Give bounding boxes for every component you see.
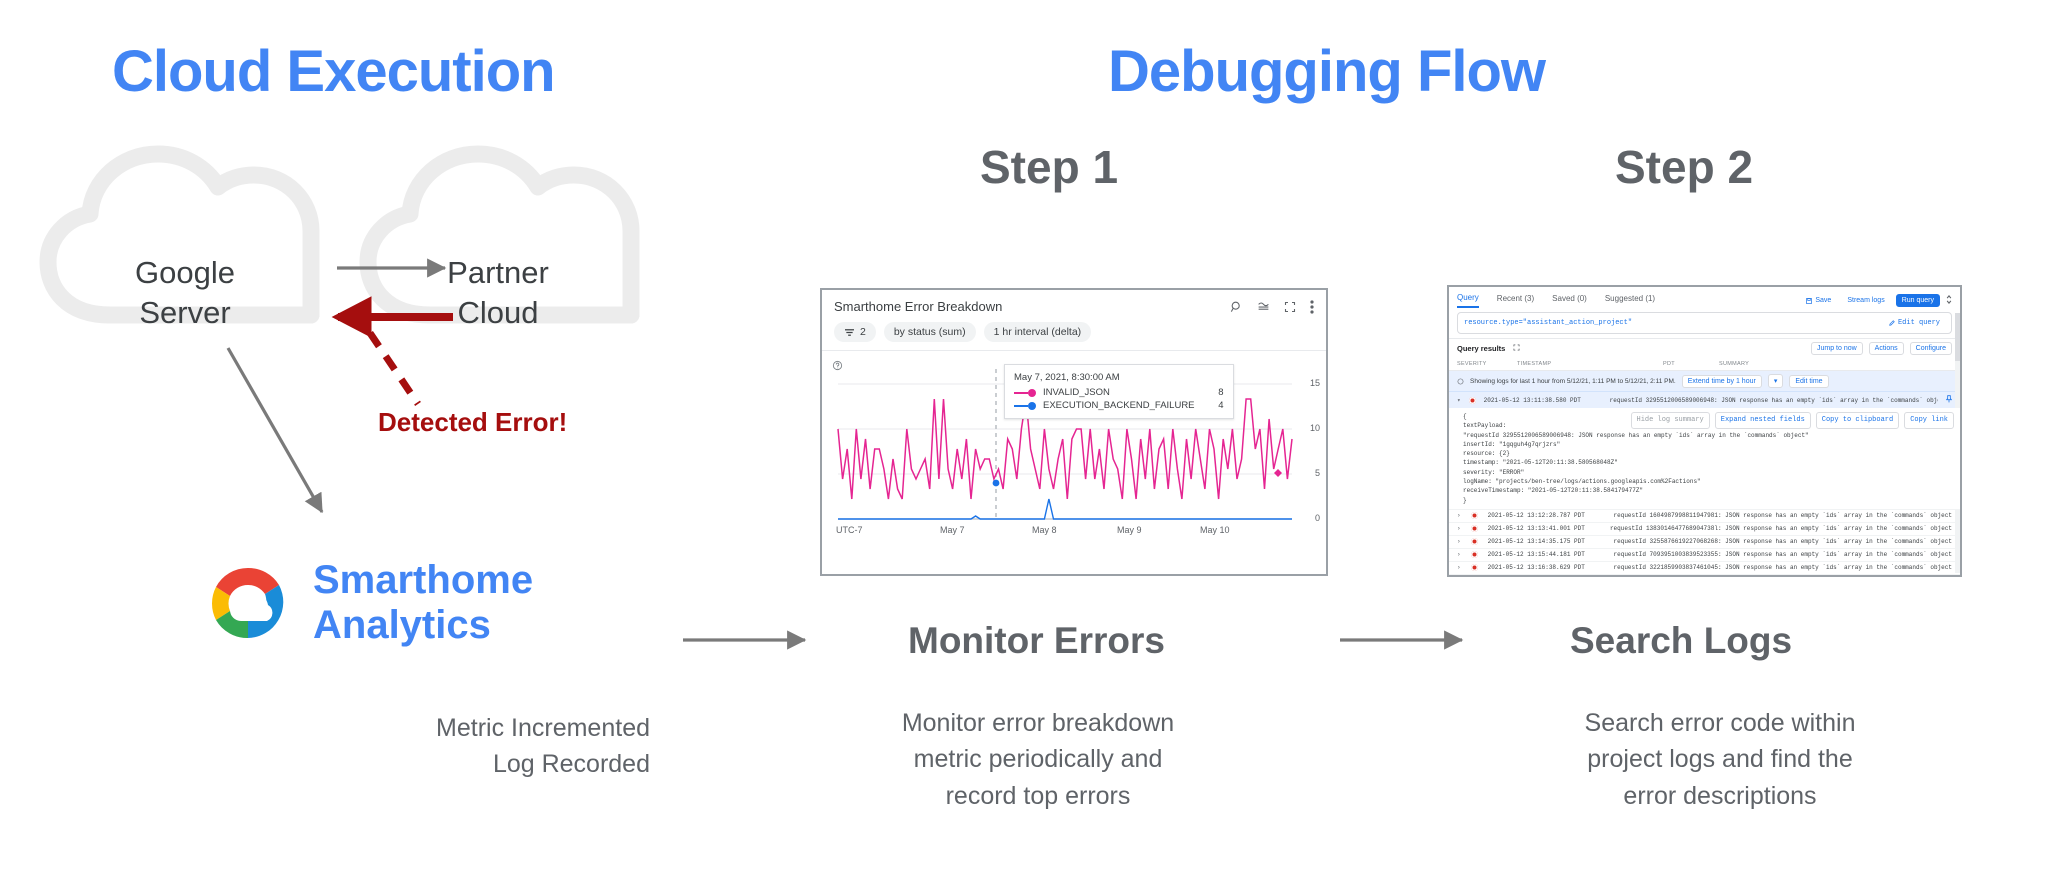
json-line: } <box>1463 496 1952 505</box>
google-server-label: Google Server <box>85 253 285 332</box>
json-line[interactable]: resource: {2} <box>1463 449 1952 458</box>
row-summary: requestId 1604987998811947981: JSON resp… <box>1614 512 1952 519</box>
row-summary: requestId 3221859903837461045: JSON resp… <box>1614 564 1952 571</box>
chart-highlight-point-blue <box>993 480 1000 487</box>
column-header-timestamp: TIMESTAMP <box>1517 361 1637 367</box>
json-line: severity: "ERROR" <box>1463 468 1952 477</box>
severity-error-icon <box>1471 551 1478 558</box>
json-line: receiveTimestamp: "2021-05-12T20:11:38.5… <box>1463 486 1952 495</box>
tab-recent[interactable]: Recent (3) <box>1497 294 1534 307</box>
column-header-severity: SEVERITY <box>1457 361 1491 367</box>
logs-column-headers: SEVERITY TIMESTAMP PDT SUMMARY <box>1449 358 1960 371</box>
column-header-timezone[interactable]: PDT <box>1663 361 1693 367</box>
chart-xtick-may-8: May 8 <box>1032 525 1057 535</box>
selected-row-timestamp: 2021-05-12 13:11:38.580 PDT <box>1484 397 1602 404</box>
tab-query[interactable]: Query <box>1457 293 1479 308</box>
logs-result-rows: ›2021-05-12 13:12:28.787 PDTrequestId 16… <box>1449 509 1960 577</box>
caption-metric-log: Metric Incremented Log Recorded <box>210 710 650 783</box>
save-icon <box>1806 298 1812 304</box>
results-actions: Jump to now Actions Configure <box>1811 342 1952 355</box>
chart-highlight-point-pink <box>1274 469 1282 477</box>
step-1-title: Step 1 <box>980 140 1118 194</box>
arrow-google-to-analytics <box>228 348 322 512</box>
chart-header-icons <box>1230 300 1314 314</box>
chart-xtick-may-10: May 10 <box>1200 525 1230 535</box>
table-row[interactable]: ›2021-05-12 13:16:38.629 PDTrequestId 32… <box>1449 561 1960 574</box>
chart-xtick-may-9: May 9 <box>1117 525 1142 535</box>
dashed-error-line <box>370 333 418 404</box>
actions-dropdown[interactable]: Actions <box>1869 342 1904 355</box>
run-query-button[interactable]: Run query <box>1896 294 1940 307</box>
tooltip-series-value: 4 <box>1202 400 1224 411</box>
severity-error-icon <box>1469 397 1476 404</box>
chart-series-execution-backend-failure <box>838 499 1292 519</box>
expand-collapse-icon[interactable] <box>1946 294 1952 307</box>
severity-error-icon <box>1471 525 1478 532</box>
caption-search-logs: Search error code within project logs an… <box>1520 705 1920 814</box>
stream-logs-button[interactable]: Stream logs <box>1842 295 1889 306</box>
edit-time-button[interactable]: Edit time <box>1789 375 1828 388</box>
logs-toolbar: Save Stream logs Run query <box>1801 294 1952 307</box>
info-circle-icon <box>1457 378 1464 385</box>
chevron-right-icon[interactable]: › <box>1457 512 1461 519</box>
chart-chip-row: 2 by status (sum) 1 hr interval (delta) <box>822 316 1326 350</box>
tooltip-row-invalid-json: INVALID_JSON 8 <box>1014 387 1224 398</box>
chevron-right-icon[interactable]: › <box>1457 525 1461 532</box>
logs-explorer-card[interactable]: Query Recent (3) Saved (0) Suggested (1)… <box>1447 285 1962 577</box>
brand-name-label: Smarthome Analytics <box>313 558 533 648</box>
tooltip-timestamp: May 7, 2021, 8:30:00 AM <box>1014 372 1224 383</box>
edit-query-button[interactable]: Edit query <box>1884 317 1945 329</box>
fullscreen-icon[interactable] <box>1513 344 1520 353</box>
severity-error-icon <box>1471 512 1478 519</box>
flow-heading-monitor-errors: Monitor Errors <box>908 620 1165 662</box>
chart-xtick-may-7: May 7 <box>940 525 965 535</box>
pin-icon[interactable] <box>1946 395 1952 405</box>
caption-monitor-errors: Monitor error breakdown metric periodica… <box>838 705 1238 814</box>
interval-chip-label: 1 hr interval (delta) <box>994 326 1082 338</box>
configure-dropdown[interactable]: Configure <box>1910 342 1952 355</box>
table-row[interactable]: ›2021-05-12 13:15:44.181 PDTrequestId 70… <box>1449 548 1960 561</box>
severity-error-icon <box>1471 538 1478 545</box>
extend-time-button[interactable]: Extend time by 1 hour <box>1682 375 1762 388</box>
table-row[interactable]: ›2021-05-12 13:12:28.787 PDTrequestId 16… <box>1449 509 1960 522</box>
save-button-label: Save <box>1815 297 1831 304</box>
step-2-title: Step 2 <box>1615 140 1753 194</box>
time-range-banner: Showing logs for last 1 hour from 5/12/2… <box>1449 371 1960 391</box>
tab-saved[interactable]: Saved (0) <box>1552 294 1587 307</box>
hide-log-summary-button[interactable]: Hide log summary <box>1631 412 1710 429</box>
table-row[interactable]: ›2021-05-12 13:14:35.175 PDTrequestId 32… <box>1449 535 1960 548</box>
tooltip-series-name: EXECUTION_BACKEND_FAILURE <box>1043 400 1195 411</box>
edit-query-label: Edit query <box>1898 319 1940 327</box>
group-by-chip[interactable]: by status (sum) <box>884 322 976 342</box>
smarthome-analytics-brand: Smarthome Analytics <box>205 558 533 648</box>
chart-timezone-label: UTC-7 <box>836 525 863 535</box>
chart-ytick-0: 0 <box>1315 513 1320 523</box>
extend-time-dropdown[interactable]: ▾ <box>1768 374 1784 388</box>
time-range-text: Showing logs for last 1 hour from 5/12/2… <box>1470 378 1676 385</box>
severity-error-icon <box>1471 564 1478 571</box>
chart-tooltip: May 7, 2021, 8:30:00 AM INVALID_JSON 8 E… <box>1004 364 1234 419</box>
row-timestamp: 2021-05-12 13:16:38.629 PDT <box>1488 564 1604 571</box>
table-row[interactable]: ›2021-05-12 13:13:41.001 PDTrequestId 13… <box>1449 522 1960 535</box>
tooltip-series-value: 8 <box>1202 387 1224 398</box>
row-timestamp: 2021-05-12 13:12:28.787 PDT <box>1488 512 1604 519</box>
log-entry-json: Hide log summary Expand nested fields Co… <box>1449 408 1960 509</box>
row-timestamp: 2021-05-12 13:13:41.001 PDT <box>1488 525 1600 532</box>
row-timestamp: 2021-05-12 13:14:35.175 PDT <box>1488 538 1604 545</box>
selected-log-row[interactable]: ▾ 2021-05-12 13:11:38.580 PDT requestId … <box>1449 391 1960 408</box>
copy-to-clipboard-button[interactable]: Copy to clipboard <box>1816 412 1899 429</box>
tab-suggested[interactable]: Suggested (1) <box>1605 294 1655 307</box>
pencil-icon <box>1889 320 1895 326</box>
json-action-buttons: Hide log summary Expand nested fields Co… <box>1631 412 1954 429</box>
page-title-cloud-execution: Cloud Execution <box>112 38 555 105</box>
query-text: resource.type="assistant_action_project" <box>1464 319 1632 327</box>
selected-row-summary: requestId 3295512006589006948: JSON resp… <box>1610 397 1938 404</box>
query-results-title: Query results <box>1457 344 1505 353</box>
query-results-bar: Query results Jump to now Actions Config… <box>1449 338 1960 358</box>
column-header-summary: SUMMARY <box>1719 361 1749 367</box>
json-line: insertId: "1gqguh4g7qrjzrs" <box>1463 440 1952 449</box>
flow-heading-search-logs: Search Logs <box>1570 620 1792 662</box>
chart-ytick-10: 10 <box>1310 423 1320 433</box>
query-input[interactable]: resource.type="assistant_action_project"… <box>1457 312 1952 334</box>
json-line: logName: "projects/ben-tree/logs/actions… <box>1463 477 1952 486</box>
zoom-search-icon[interactable] <box>1230 300 1243 313</box>
table-row[interactable]: ›2021-05-12 13:48:40.484 PDTrequestId 47… <box>1449 574 1960 577</box>
chevron-right-icon[interactable]: › <box>1457 538 1461 545</box>
logs-tab-bar: Query Recent (3) Saved (0) Suggested (1)… <box>1449 287 1960 308</box>
legend-swatch-execution-backend-failure <box>1014 402 1036 410</box>
chart-card-header: Smarthome Error Breakdown <box>822 290 1326 316</box>
detected-error-label: Detected Error! <box>378 407 567 438</box>
tooltip-row-execution-backend-failure: EXECUTION_BACKEND_FAILURE 4 <box>1014 400 1224 411</box>
google-cloud-logo-icon <box>205 564 291 642</box>
save-button[interactable]: Save <box>1801 295 1836 306</box>
filter-chip-label: 2 <box>860 326 866 338</box>
interval-chip[interactable]: 1 hr interval (delta) <box>984 322 1092 342</box>
row-timestamp: 2021-05-12 13:15:44.181 PDT <box>1488 551 1604 558</box>
fullscreen-icon[interactable] <box>1284 301 1296 313</box>
chevron-right-icon[interactable]: › <box>1457 564 1461 571</box>
jump-to-now-button[interactable]: Jump to now <box>1811 342 1863 355</box>
legend-swatch-invalid-json <box>1014 389 1036 397</box>
tooltip-series-name: INVALID_JSON <box>1043 387 1195 398</box>
chevron-right-icon[interactable]: › <box>1457 551 1461 558</box>
chart-ytick-15: 15 <box>1310 378 1320 388</box>
row-summary: requestId 1383014647768904738l: JSON res… <box>1610 525 1952 532</box>
page-title-debugging-flow: Debugging Flow <box>1108 38 1545 105</box>
more-vert-icon[interactable] <box>1310 300 1314 314</box>
chart-type-icon[interactable] <box>1257 300 1270 313</box>
copy-link-button[interactable]: Copy link <box>1904 412 1954 429</box>
chart-ytick-5: 5 <box>1315 468 1320 478</box>
partner-cloud-label: Partner Cloud <box>398 253 598 332</box>
row-summary: requestId 7093951003839523355: JSON resp… <box>1614 551 1952 558</box>
json-line: "requestId 3295512006589006948: JSON res… <box>1463 431 1952 440</box>
group-by-chip-label: by status (sum) <box>894 326 966 338</box>
chevron-down-icon[interactable]: ▾ <box>1457 397 1461 404</box>
chart-title: Smarthome Error Breakdown <box>834 299 1002 314</box>
row-summary: requestId 3255876619227068268: JSON resp… <box>1614 538 1952 545</box>
slide-canvas: Cloud Execution Debugging Flow Step 1 St… <box>0 0 2048 885</box>
error-breakdown-chart-card[interactable]: Smarthome Error Breakdown <box>820 288 1328 576</box>
filter-icon <box>844 328 855 337</box>
filter-chip[interactable]: 2 <box>834 322 876 342</box>
chart-plot-area[interactable]: 15 10 5 0 UTC-7 May 7 May 8 May 9 May 10… <box>822 350 1326 546</box>
expand-nested-fields-button[interactable]: Expand nested fields <box>1715 412 1811 429</box>
json-line: timestamp: "2021-05-12T20:11:38.58056804… <box>1463 458 1952 467</box>
